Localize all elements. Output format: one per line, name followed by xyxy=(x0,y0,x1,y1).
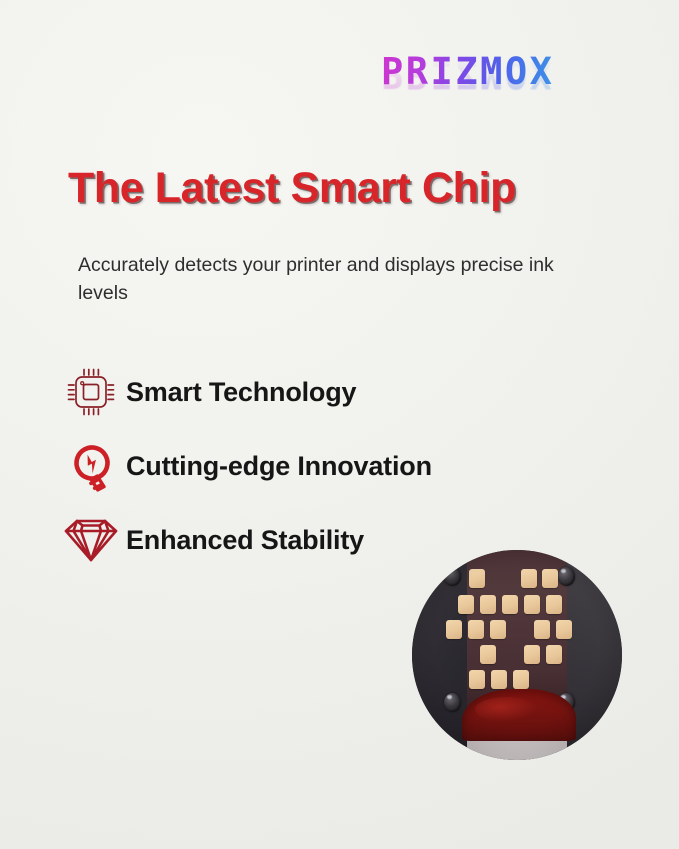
brand-logo: PRIZMOX PRIZMOX xyxy=(381,53,611,148)
brand-logo-reflection: PRIZMOX xyxy=(381,56,611,93)
screw-top-right xyxy=(558,567,575,586)
contact-pad xyxy=(469,670,485,689)
contact-pad xyxy=(468,620,484,639)
contact-pad xyxy=(546,645,562,664)
contact-pad xyxy=(502,595,518,614)
page-subtitle: Accurately detects your printer and disp… xyxy=(78,252,558,307)
contact-pad xyxy=(446,620,462,639)
page-title: The Latest Smart Chip xyxy=(68,164,516,213)
contact-pad xyxy=(556,620,572,639)
contact-pad xyxy=(534,620,550,639)
contact-pad xyxy=(490,620,506,639)
ink-highlight xyxy=(475,697,538,722)
feature-item-cutting-edge-innovation: Cutting-edge Innovation xyxy=(56,429,576,503)
contact-pad xyxy=(458,595,474,614)
contact-pad xyxy=(491,670,507,689)
contact-pad xyxy=(480,645,496,664)
feature-label: Smart Technology xyxy=(126,377,356,408)
product-feature-poster: PRIZMOX PRIZMOX The Latest Smart Chip Ac… xyxy=(0,0,679,849)
contact-pad xyxy=(521,569,537,588)
contact-pad xyxy=(524,595,540,614)
contact-pad xyxy=(524,645,540,664)
feature-list: Smart Technology Cutting-edge Inno xyxy=(56,355,576,577)
product-photo-circle xyxy=(412,550,622,760)
microchip-icon xyxy=(56,361,126,423)
contact-pad xyxy=(542,569,558,588)
feature-item-smart-technology: Smart Technology xyxy=(56,355,576,429)
product-photo-image xyxy=(412,550,622,760)
contact-pad xyxy=(480,595,496,614)
contact-pad xyxy=(546,595,562,614)
contact-pad xyxy=(513,670,529,689)
lightbulb-bolt-icon xyxy=(56,435,126,497)
diamond-icon xyxy=(56,509,126,571)
contact-pad xyxy=(469,569,485,588)
screw-bottom-left xyxy=(444,693,461,712)
feature-label: Enhanced Stability xyxy=(126,525,364,556)
feature-label: Cutting-edge Innovation xyxy=(126,451,432,482)
screw-top-left xyxy=(444,567,461,586)
